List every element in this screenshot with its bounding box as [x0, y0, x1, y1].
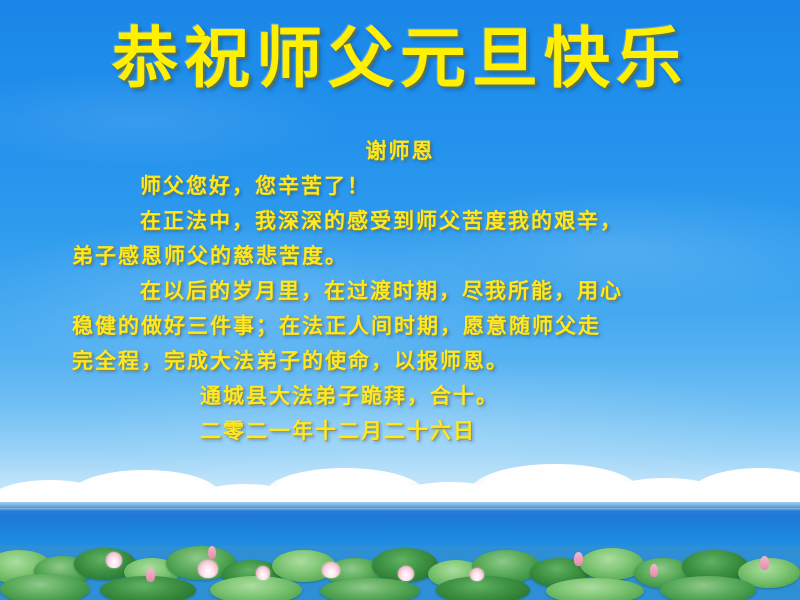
lotus-bud: [760, 556, 769, 570]
body-line: 在正法中，我深深的感受到师父苦度我的艰辛，: [0, 204, 800, 239]
lotus-bud: [146, 568, 155, 582]
lotus-flower: [470, 568, 484, 581]
body-line: 在以后的岁月里，在过渡时期，尽我所能，用心: [0, 274, 800, 309]
lotus-leaf: [660, 576, 756, 600]
lotus-flower: [322, 562, 340, 578]
lotus-pond: [0, 546, 800, 600]
lotus-leaf: [436, 576, 530, 600]
body-line: 弟子感恩师父的慈悲苦度。: [0, 239, 800, 274]
date-line: 二零二一年十二月二十六日: [0, 414, 800, 449]
lotus-leaf: [0, 574, 90, 600]
card-title: 恭祝师父元旦快乐: [0, 26, 800, 92]
greeting-card: 恭祝师父元旦快乐 谢师恩 师父您好，您辛苦了！ 在正法中，我深深的感受到师父苦度…: [0, 0, 800, 600]
lotus-flower: [256, 566, 270, 580]
lotus-flower: [106, 552, 122, 568]
body-line: 稳健的做好三件事；在法正人间时期，愿意随师父走: [0, 309, 800, 344]
lotus-bud: [650, 564, 658, 577]
lotus-bud: [574, 552, 583, 566]
body-line: 完全程，完成大法弟子的使命，以报师恩。: [0, 344, 800, 379]
signature-line: 通城县大法弟子跪拜，合十。: [0, 379, 800, 414]
body-line: 师父您好，您辛苦了！: [0, 169, 800, 204]
card-body: 谢师恩 师父您好，您辛苦了！ 在正法中，我深深的感受到师父苦度我的艰辛， 弟子感…: [0, 134, 800, 449]
lotus-bud: [208, 546, 216, 559]
lotus-leaf: [546, 578, 644, 600]
lotus-leaf: [210, 576, 302, 600]
lotus-flower: [198, 560, 218, 578]
body-heading: 谢师恩: [0, 134, 800, 169]
lotus-flower: [398, 566, 414, 581]
lotus-leaf: [320, 578, 420, 600]
